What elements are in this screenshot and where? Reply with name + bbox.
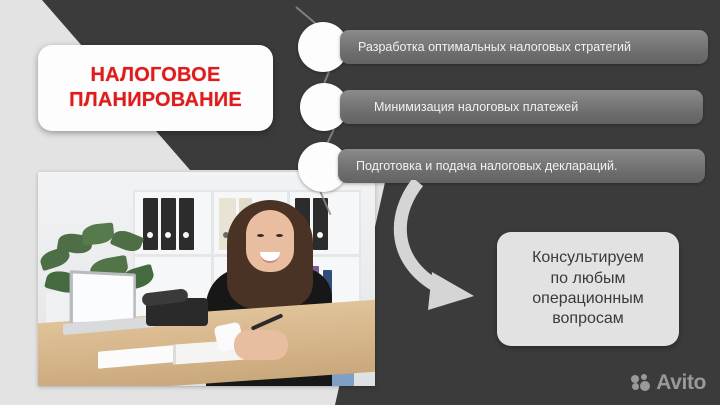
photo-binder <box>161 198 176 250</box>
avito-logo-icon <box>631 374 652 391</box>
list-item-label: Минимизация налоговых платежей <box>374 101 578 114</box>
callout-line-2: по любым <box>532 269 644 289</box>
callout-line-4: вопросам <box>532 309 644 329</box>
callout-line-3: операционным <box>532 289 644 309</box>
photo-person-eye <box>257 234 264 237</box>
callout-box: Консультируем по любым операционным вопр… <box>497 232 679 346</box>
list-item: Минимизация налоговых платежей <box>340 90 703 124</box>
page-title: НАЛОГОВОЕ ПЛАНИРОВАНИЕ <box>69 63 242 113</box>
list-item-label: Подготовка и подача налоговых деклараций… <box>356 160 618 173</box>
photo-person-eye <box>276 234 283 237</box>
title-line-2: ПЛАНИРОВАНИЕ <box>69 88 242 113</box>
photo-binder <box>143 198 158 250</box>
photo-person-face <box>246 210 294 272</box>
photo-desk-phone <box>146 298 208 326</box>
photo-person-smile <box>260 252 280 263</box>
callout-line-1: Консультируем <box>532 248 644 268</box>
list-item: Подготовка и подача налоговых деклараций… <box>338 149 705 183</box>
slide-canvas: НАЛОГОВОЕ ПЛАНИРОВАНИЕ <box>0 0 720 405</box>
title-card: НАЛОГОВОЕ ПЛАНИРОВАНИЕ <box>38 45 273 131</box>
avito-watermark: Avito <box>631 372 706 393</box>
avito-wordmark: Avito <box>656 372 706 393</box>
callout-text: Консультируем по любым операционным вопр… <box>532 248 644 330</box>
list-item-label: Разработка оптимальных налоговых стратег… <box>358 41 631 54</box>
photo-binder <box>179 198 194 250</box>
title-line-1: НАЛОГОВОЕ <box>90 64 220 86</box>
list-item: Разработка оптимальных налоговых стратег… <box>340 30 708 64</box>
photo-person-hands <box>234 330 288 360</box>
